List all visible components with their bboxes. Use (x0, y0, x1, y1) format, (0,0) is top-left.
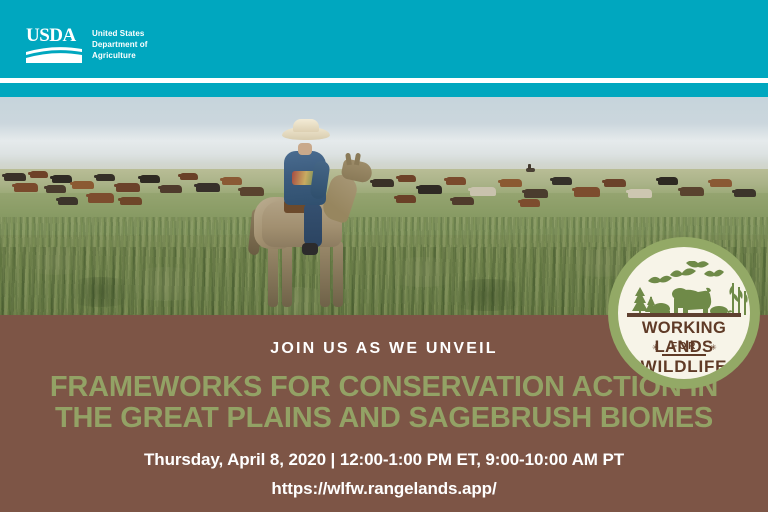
banner-details: Thursday, April 8, 2020 | 12:00-1:00 PM … (0, 445, 768, 503)
wlfw-for-underline (662, 354, 706, 356)
wlfw-ground-rule (627, 313, 741, 317)
cowboy-hat-crown (293, 119, 319, 132)
usda-agency-line-3: Agriculture (92, 50, 148, 61)
rider-neck (298, 143, 312, 155)
horse-leg-rear-right (282, 243, 292, 307)
usda-abbreviation: USDA (26, 26, 82, 45)
header-divider-rule (0, 78, 768, 83)
banner-headline-line-2: THE GREAT PLAINS AND SAGEBRUSH BIOMES (0, 403, 768, 434)
usda-agency-line-2: Department of (92, 39, 148, 50)
wlfw-for-text: FOR (618, 341, 750, 352)
banner-date-time: Thursday, April 8, 2020 | 12:00-1:00 PM … (0, 445, 768, 474)
usda-wordmark: USDA (26, 26, 82, 64)
horse-leg-rear-left (268, 241, 278, 307)
banner-event-url[interactable]: https://wlfw.rangelands.app/ (0, 474, 768, 503)
wlfw-wildlife-text: WILDLIFE (618, 357, 750, 377)
usda-agency-name: United States Department of Agriculture (92, 26, 148, 61)
working-lands-for-wildlife-logo: WORKING LANDS ✳ FOR ✳ WILDLIFE (608, 237, 760, 389)
horse-ear-left (345, 153, 352, 166)
cowboy-on-horseback (248, 105, 370, 305)
photo-sky-haze (0, 123, 768, 163)
usda-swoosh-icon (26, 46, 82, 63)
wlfw-star-right-icon: ✳ (710, 343, 717, 352)
rider-boot (302, 243, 318, 255)
wlfw-inner-field: WORKING LANDS ✳ FOR ✳ WILDLIFE (618, 247, 750, 379)
horse-leg-front-left (320, 239, 330, 307)
wlfw-wildlife-scene-icon (618, 261, 750, 317)
distant-rider (524, 164, 535, 173)
usda-header-bar: USDA United States Department of Agricul… (0, 0, 768, 97)
usda-agency-line-1: United States (92, 28, 148, 39)
horse-leg-front-right (333, 241, 343, 307)
rider-leg (304, 203, 322, 247)
usda-logo: USDA United States Department of Agricul… (26, 26, 148, 64)
